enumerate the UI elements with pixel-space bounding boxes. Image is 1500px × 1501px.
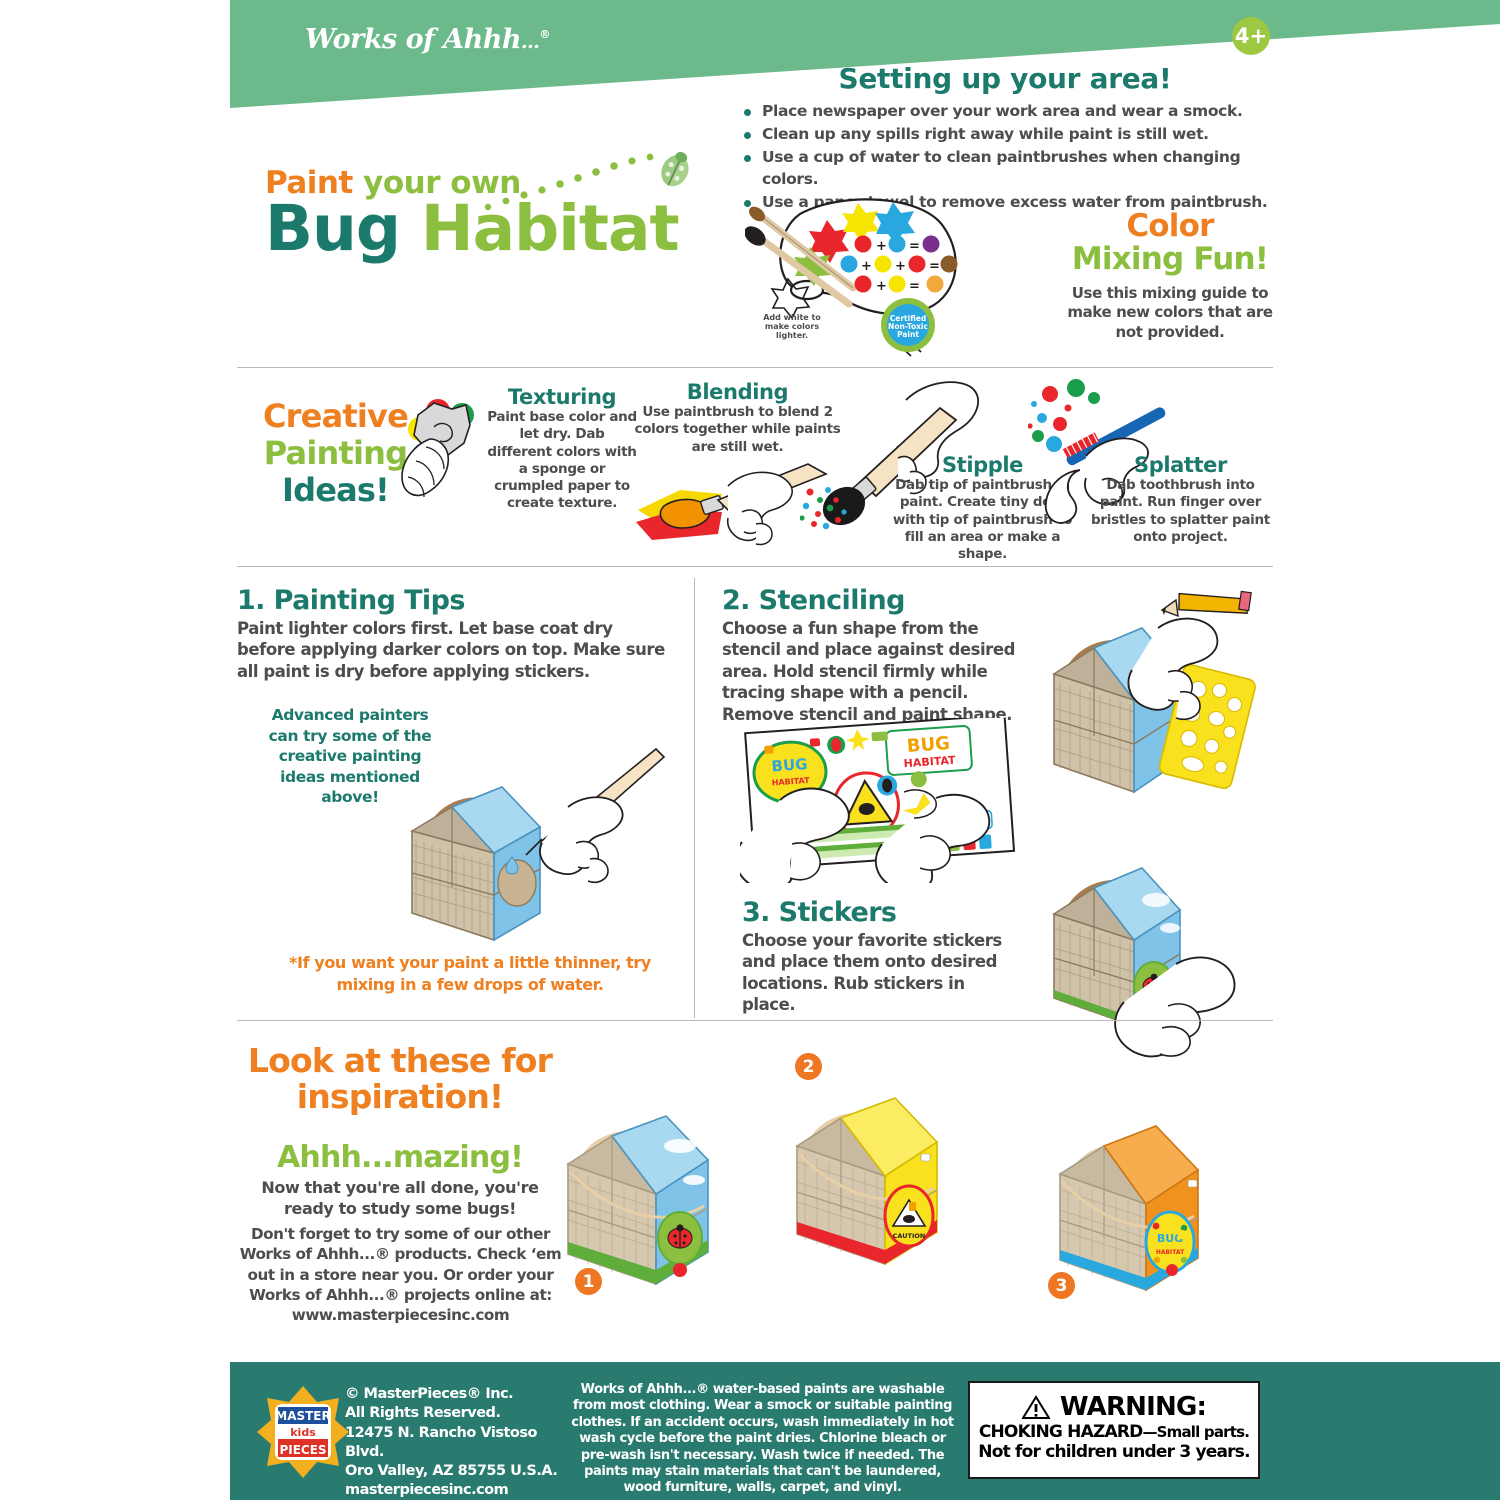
warning-line-2: CHOKING HAZARD—Small parts.	[970, 1422, 1258, 1442]
step-heading: 1. Painting Tips	[237, 585, 667, 616]
order-online-text: Don't forget to try some of our other Wo…	[233, 1224, 568, 1326]
svg-text:=: =	[929, 259, 940, 274]
warning-title: WARNING:	[1060, 1392, 1206, 1422]
inspiration-habitat-2: CAUTION	[775, 1068, 1005, 1293]
small-parts-text: —Small parts.	[1142, 1423, 1249, 1441]
technique-desc: Paint base color and let dry. Dab differ…	[487, 409, 637, 513]
setup-title: Setting up your area!	[740, 62, 1270, 95]
svg-text:+: +	[895, 259, 906, 274]
technique-name: Texturing	[487, 385, 637, 409]
ahhh-mazing-title: Ahhh...mazing!	[245, 1140, 555, 1175]
svg-text:+: +	[876, 279, 887, 294]
technique-splatter: Splatter Dab toothbrush into paint. Run …	[1088, 453, 1273, 546]
step-stenciling: 2. Stenciling Choose a fun shape from th…	[722, 585, 1022, 725]
instruction-sheet: Works of Ahhh...® 4+ Setting up your are…	[0, 0, 1500, 1500]
brand-logo: Works of Ahhh...®	[305, 24, 550, 55]
technique-desc: Dab toothbrush into paint. Run finger ov…	[1088, 477, 1273, 546]
svg-text:kids: kids	[290, 1426, 316, 1439]
svg-text:CAUTION: CAUTION	[893, 1232, 926, 1240]
creative-word-1: Creative	[263, 397, 408, 435]
svg-text:BUG: BUG	[771, 755, 808, 775]
svg-text:=: =	[909, 239, 920, 254]
step-stickers: 3. Stickers Choose your favorite sticker…	[742, 897, 1022, 1016]
svg-text:make colors: make colors	[765, 322, 819, 331]
masterpieces-logo: MASTER kids PIECES	[255, 1384, 351, 1480]
brand-logo-suffix: ...	[521, 31, 539, 53]
age-badge: 4+	[1232, 17, 1270, 55]
svg-text:BUG: BUG	[906, 733, 950, 757]
step-body: Paint lighter colors first. Let base coa…	[237, 618, 667, 682]
stickers-habitat-illustration	[1028, 828, 1278, 1063]
choking-hazard-text: CHOKING HAZARD	[979, 1422, 1143, 1442]
svg-text:lighter.: lighter.	[776, 331, 808, 340]
brand-logo-text: Works of Ahhh	[305, 24, 521, 55]
inspiration-badge-3: 3	[1048, 1272, 1075, 1299]
stenciling-habitat-illustration	[1030, 588, 1280, 843]
step-body: Choose a fun shape from the stencil and …	[722, 618, 1022, 725]
svg-text:+: +	[876, 239, 887, 254]
divider-top	[237, 367, 1273, 368]
svg-text:+: +	[861, 259, 872, 274]
creative-word-3: Ideas!	[282, 471, 389, 509]
step-painting-tips: 1. Painting Tips Paint lighter colors fi…	[237, 585, 667, 682]
svg-text:=: =	[909, 279, 920, 294]
warning-triangle-icon	[1022, 1395, 1050, 1420]
non-toxic-seal-icon: Certified Non-Toxic Paint	[881, 298, 935, 352]
creative-word-2: Painting	[264, 434, 408, 472]
warning-title-row: WARNING:	[970, 1392, 1258, 1422]
svg-text:Paint: Paint	[897, 330, 919, 339]
washability-text: Works of Ahhh...® water-based paints are…	[570, 1382, 955, 1497]
step-heading: 2. Stenciling	[722, 585, 1022, 616]
copyright-block: © MasterPieces® Inc. All Rights Reserved…	[345, 1385, 565, 1501]
mixing-title-fun: Mixing Fun!	[1072, 241, 1268, 277]
paint-palette-illustration: + = + + = + =	[745, 192, 1045, 367]
warning-box: WARNING: CHOKING HAZARD—Small parts. Not…	[968, 1381, 1260, 1479]
setup-bullet: Use a cup of water to clean paintbrushes…	[740, 146, 1270, 192]
divider-mid	[237, 566, 1273, 567]
svg-text:Add white to: Add white to	[763, 313, 821, 322]
svg-text:MASTER: MASTER	[275, 1409, 331, 1423]
thinner-paint-note: *If you want your paint a little thinner…	[260, 952, 680, 995]
color-mixing-section: + = + + = + =	[745, 192, 1275, 362]
painting-habitat-illustration	[390, 735, 680, 960]
svg-text:PIECES: PIECES	[279, 1443, 326, 1457]
step-heading: 3. Stickers	[742, 897, 1022, 928]
mixing-subtitle: Use this mixing guide to make new colors…	[1055, 284, 1285, 343]
mixing-title-color: Color	[1126, 208, 1213, 244]
warning-line-3: Not for children under 3 years.	[970, 1442, 1258, 1462]
divider-vertical	[694, 578, 695, 1018]
step-body: Choose your favorite stickers and place …	[742, 930, 1022, 1016]
title-bug: Bug	[265, 192, 400, 265]
technique-name: Splatter	[1088, 453, 1273, 477]
technique-texturing: Texturing Paint base color and let dry. …	[487, 385, 637, 513]
divider-bottom	[237, 1020, 1273, 1021]
setup-bullet: Place newspaper over your work area and …	[740, 100, 1270, 123]
ahhh-mazing-subtitle: Now that you're all done, you're ready t…	[245, 1178, 555, 1220]
product-title: Paint your own Bug Habitat	[265, 165, 725, 261]
mixing-title: Color Mixing Fun!	[1055, 210, 1285, 277]
svg-text:HABITAT: HABITAT	[1156, 1249, 1185, 1256]
title-line-2: Bug Habitat	[265, 197, 725, 261]
inspiration-badge-1: 1	[575, 1268, 602, 1295]
color-mixing-text: Color Mixing Fun! Use this mixing guide …	[1055, 210, 1285, 342]
setup-bullet: Clean up any spills right away while pai…	[740, 123, 1270, 146]
inspiration-title: Look at these for inspiration!	[245, 1043, 555, 1114]
texturing-illustration	[400, 385, 460, 530]
sticker-sheet-illustration: BUG HABITAT BUG HABITAT CAUTION	[740, 718, 1030, 888]
registered-mark-icon: ®	[539, 28, 550, 41]
inspiration-badge-2: 2	[795, 1053, 822, 1080]
title-habitat: Habitat	[421, 192, 679, 265]
